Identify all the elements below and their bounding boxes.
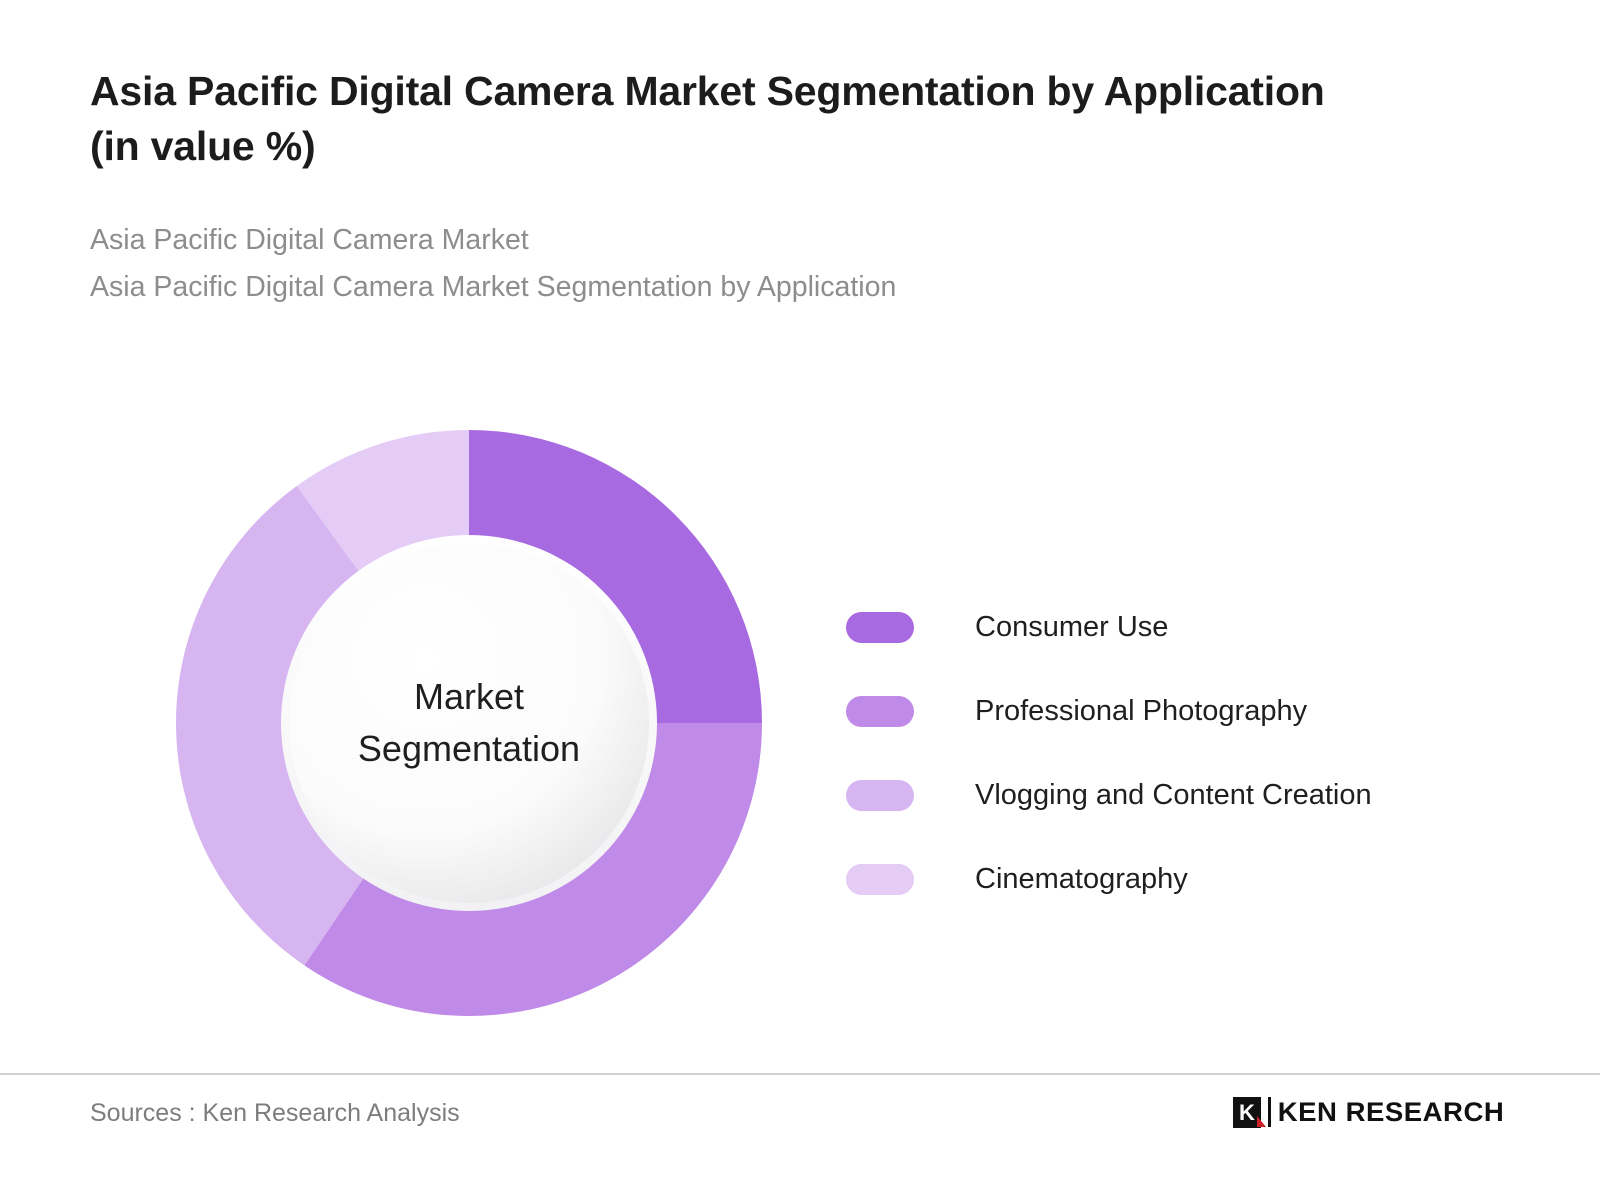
legend-label: Consumer Use (975, 611, 1168, 644)
legend-item[interactable]: Consumer Use (846, 585, 1372, 669)
legend-item[interactable]: Vlogging and Content Creation (846, 753, 1372, 837)
legend-swatch-icon (846, 780, 914, 811)
logo-divider (1268, 1097, 1271, 1127)
legend-item[interactable]: Cinematography (846, 837, 1372, 921)
legend-swatch-icon (846, 612, 914, 643)
red-notch-icon (1257, 1116, 1266, 1127)
legend-label: Vlogging and Content Creation (975, 779, 1372, 812)
page-title: Asia Pacific Digital Camera Market Segme… (90, 64, 1340, 175)
subtitle-block: Asia Pacific Digital Camera Market Asia … (90, 217, 1380, 311)
chart-area: Market Segmentation Consumer UseProfessi… (0, 380, 1600, 1060)
legend-label: Professional Photography (975, 695, 1307, 728)
donut-svg (176, 430, 762, 1016)
header: Asia Pacific Digital Camera Market Segme… (90, 64, 1380, 311)
k-glyph-letter: K (1236, 1100, 1258, 1125)
legend-swatch-icon (846, 864, 914, 895)
subtitle-line-2: Asia Pacific Digital Camera Market Segme… (90, 264, 1380, 311)
chart-legend: Consumer UseProfessional PhotographyVlog… (846, 585, 1372, 921)
donut-hub (289, 543, 649, 903)
footer: Sources : Ken Research Analysis K KEN RE… (0, 1073, 1600, 1200)
ken-research-logo: K KEN RESEARCH (1233, 1095, 1502, 1129)
subtitle-line-1: Asia Pacific Digital Camera Market (90, 217, 1380, 264)
donut-chart: Market Segmentation (176, 430, 762, 1016)
source-note: Sources : Ken Research Analysis (90, 1099, 460, 1128)
legend-item[interactable]: Professional Photography (846, 669, 1372, 753)
brand-name: KEN RESEARCH (1278, 1097, 1504, 1128)
k-logo-icon: K (1233, 1097, 1261, 1128)
legend-swatch-icon (846, 696, 914, 727)
slide-root: Asia Pacific Digital Camera Market Segme… (0, 0, 1600, 1200)
legend-label: Cinematography (975, 863, 1188, 896)
